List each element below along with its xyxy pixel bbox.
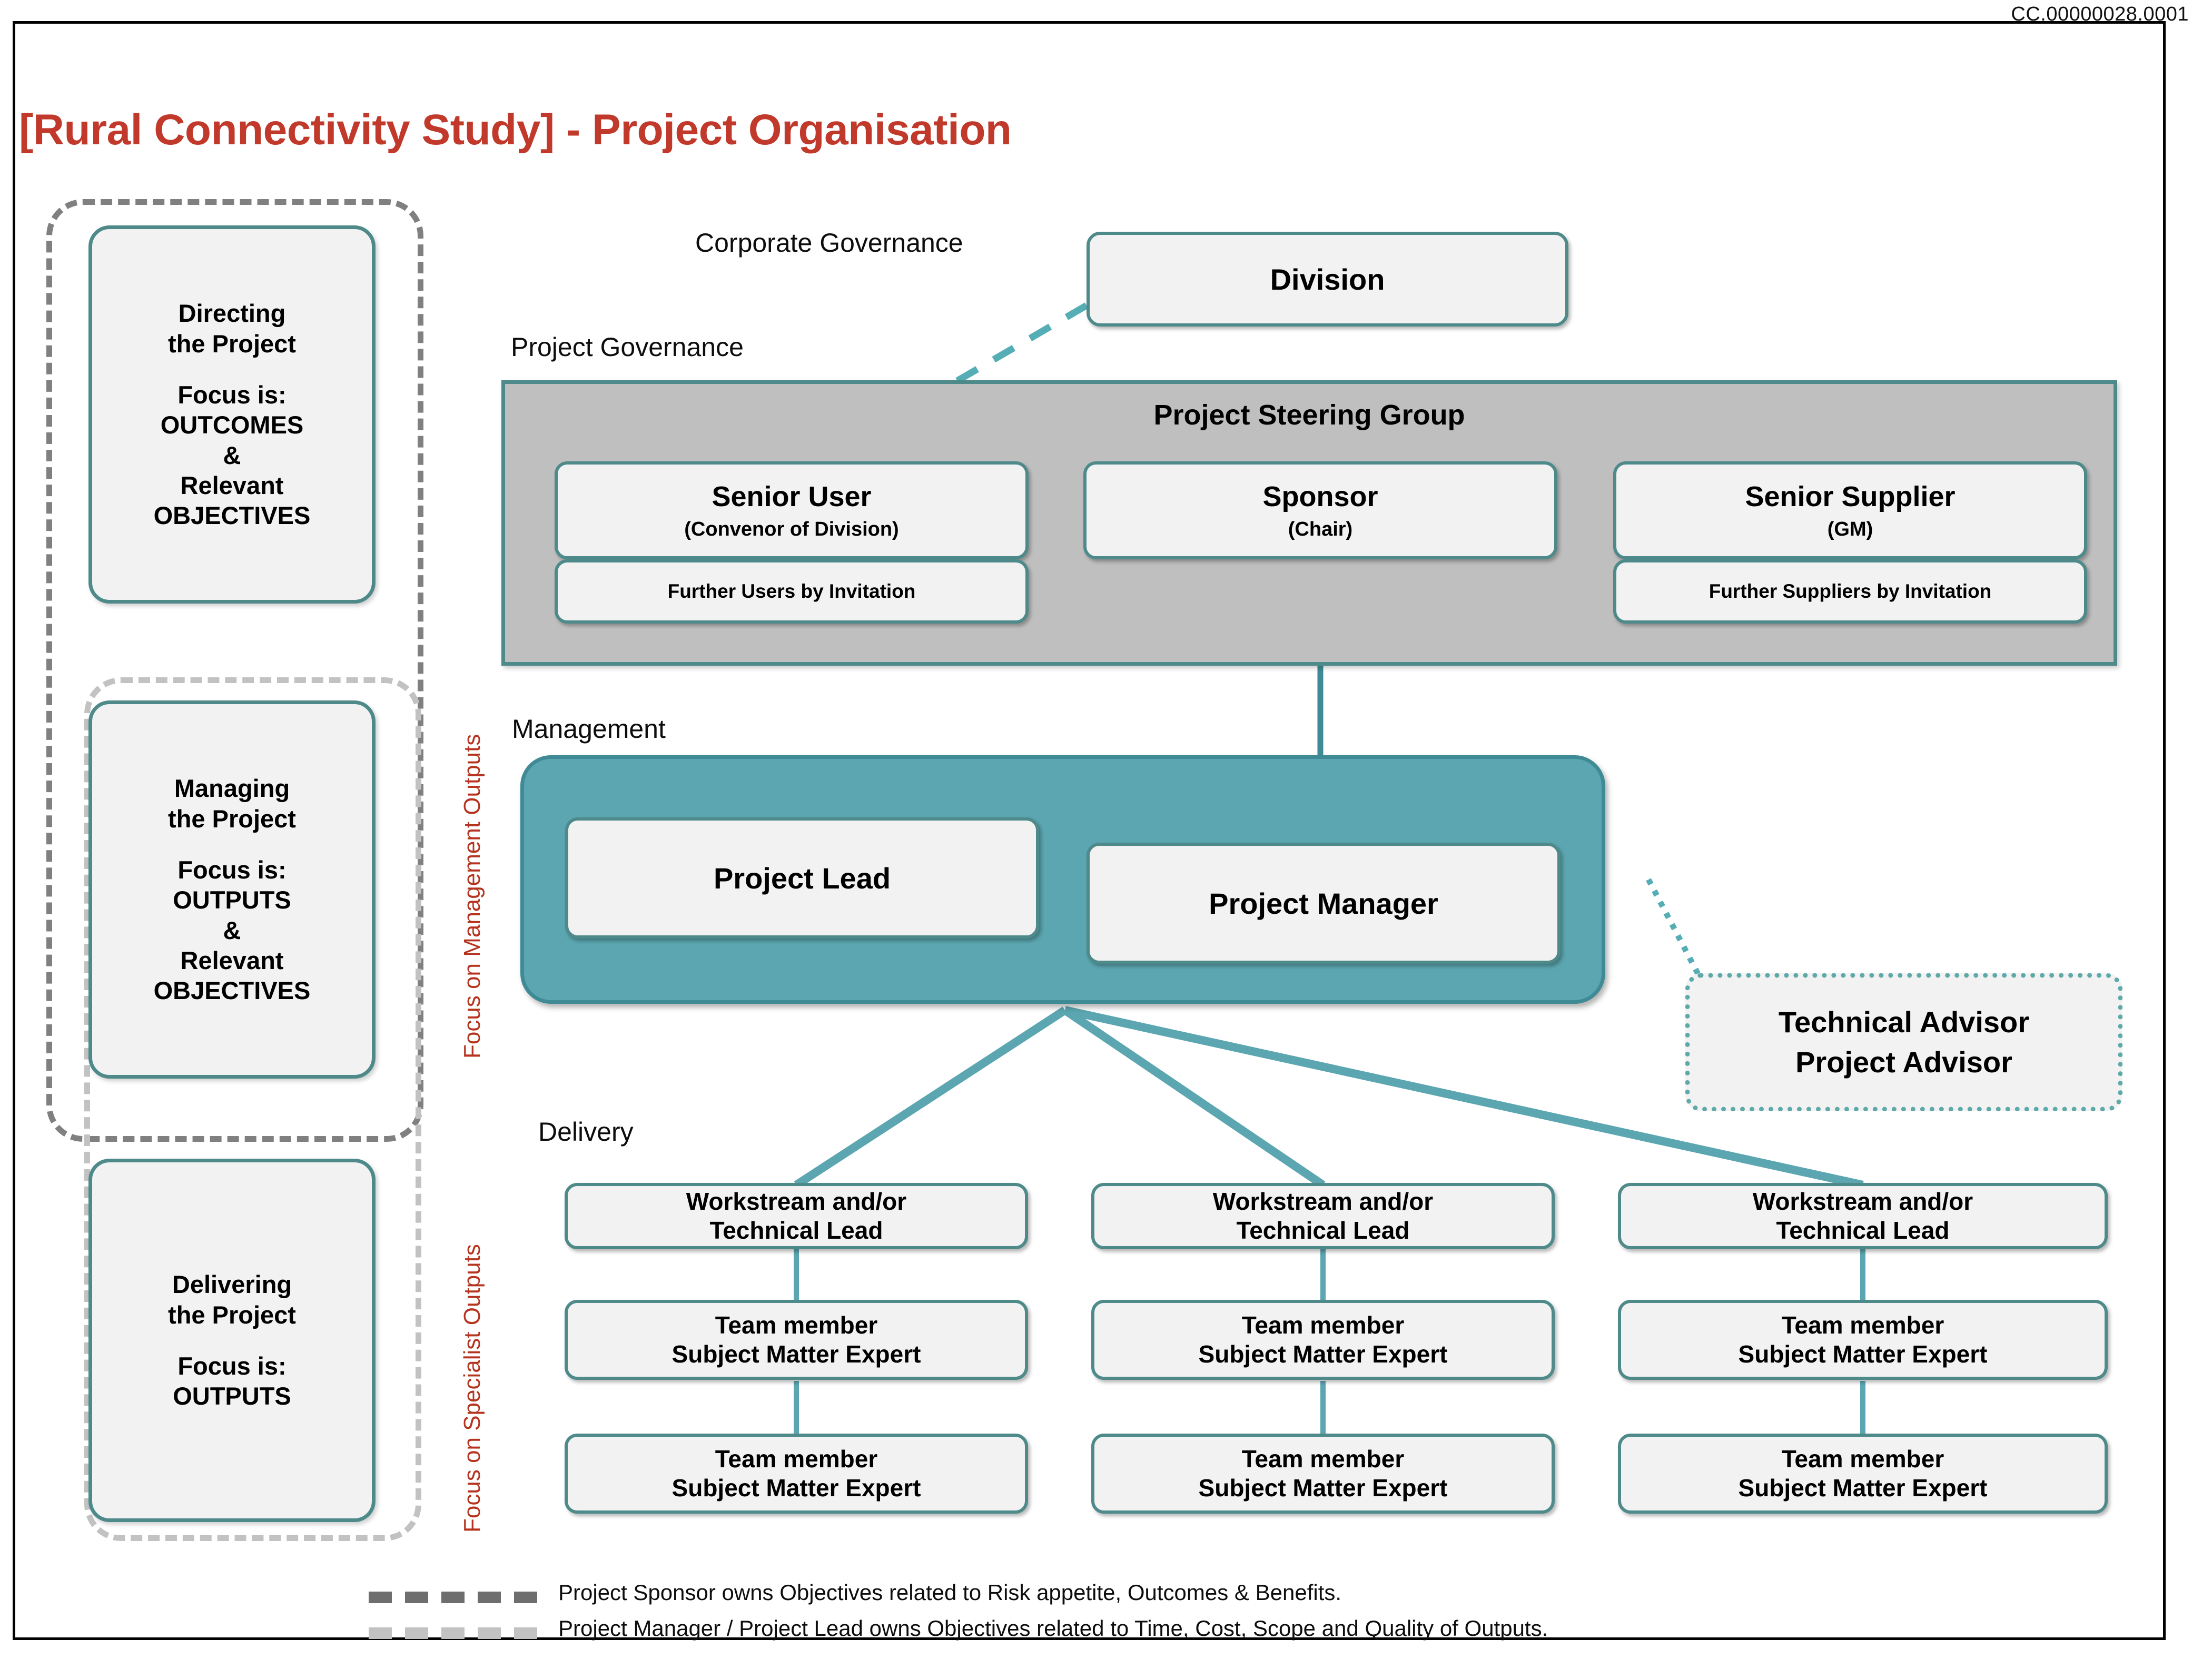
node-further-users[interactable]: Further Users by Invitation [555,559,1029,624]
senior-supplier-sub: (GM) [1828,518,1873,541]
focus-box-delivering: Delivering the Project Focus is: OUTPUTS [88,1159,376,1522]
team-member-line1: Team member [715,1445,878,1474]
workstream-lead-line1: Workstream and/or [1753,1187,1973,1216]
legend-text-sponsor: Project Sponsor owns Objectives related … [558,1580,1341,1605]
node-sponsor[interactable]: Sponsor (Chair) [1083,461,1557,559]
team-member-line2: Subject Matter Expert [672,1474,921,1503]
node-workstream-lead-2[interactable]: Workstream and/or Technical Lead [1091,1183,1555,1249]
node-team-member-2-2[interactable]: Team member Subject Matter Expert [1091,1434,1555,1514]
focus-heading-line1: Managing [174,773,290,803]
node-team-member-3-1[interactable]: Team member Subject Matter Expert [1618,1300,2108,1380]
caption-project-governance: Project Governance [511,332,744,362]
further-users-label: Further Users by Invitation [668,580,916,603]
node-project-lead[interactable]: Project Lead [565,817,1039,939]
document-code: CC.00000028.0001 [2011,3,2189,26]
node-senior-user[interactable]: Senior User (Convenor of Division) [555,461,1029,559]
division-label: Division [1270,262,1385,297]
workstream-lead-line2: Technical Lead [1237,1216,1410,1245]
workstream-lead-line2: Technical Lead [710,1216,883,1245]
focus-line-2: Relevant [181,945,284,975]
team-member-line1: Team member [1242,1311,1405,1340]
senior-user-sub: (Convenor of Division) [684,518,898,541]
vertical-label-management-outputs: Focus on Management Outputs [459,734,486,1059]
team-member-line2: Subject Matter Expert [672,1340,921,1369]
senior-supplier-role: Senior Supplier [1745,480,1955,513]
focus-line-3: OBJECTIVES [154,500,311,530]
focus-box-directing: Directing the Project Focus is: OUTCOMES… [88,225,376,604]
node-further-suppliers[interactable]: Further Suppliers by Invitation [1613,559,2087,624]
advisor-line2: Project Advisor [1795,1042,2012,1082]
team-member-line2: Subject Matter Expert [1199,1474,1448,1503]
workstream-lead-line1: Workstream and/or [686,1187,906,1216]
advisor-line1: Technical Advisor [1779,1002,2029,1042]
focus-line-0: OUTPUTS [173,1381,291,1411]
node-team-member-1-1[interactable]: Team member Subject Matter Expert [565,1300,1028,1380]
node-team-member-1-2[interactable]: Team member Subject Matter Expert [565,1434,1028,1514]
senior-user-role: Senior User [712,480,871,513]
team-member-line2: Subject Matter Expert [1739,1474,1988,1503]
page-title: [Rural Connectivity Study] - Project Org… [19,105,1012,155]
node-senior-supplier[interactable]: Senior Supplier (GM) [1613,461,2087,559]
team-member-line1: Team member [1782,1445,1944,1474]
further-suppliers-label: Further Suppliers by Invitation [1709,580,1992,603]
focus-line-0: OUTCOMES [161,410,304,440]
focus-label: Focus is: [177,1351,286,1381]
team-member-line1: Team member [715,1311,878,1340]
vertical-label-specialist-outputs: Focus on Specialist Outputs [459,1244,486,1533]
focus-line-3: OBJECTIVES [154,975,311,1005]
node-team-member-2-1[interactable]: Team member Subject Matter Expert [1091,1300,1555,1380]
focus-line-0: OUTPUTS [173,885,291,915]
node-workstream-lead-1[interactable]: Workstream and/or Technical Lead [565,1183,1028,1249]
focus-line-2: Relevant [181,470,284,500]
focus-heading-line2: the Project [168,1300,296,1330]
focus-box-managing: Managing the Project Focus is: OUTPUTS &… [88,700,376,1079]
team-member-line2: Subject Matter Expert [1199,1340,1448,1369]
focus-label: Focus is: [177,380,286,410]
legend-text-manager: Project Manager / Project Lead owns Obje… [558,1616,1548,1641]
caption-management: Management [512,714,666,744]
caption-delivery: Delivery [538,1117,634,1147]
node-team-member-3-2[interactable]: Team member Subject Matter Expert [1618,1434,2108,1514]
node-technical-advisor[interactable]: Technical Advisor Project Advisor [1685,973,2122,1111]
focus-line-1: & [223,915,241,945]
sponsor-role: Sponsor [1262,480,1378,513]
focus-heading-line1: Delivering [172,1269,292,1299]
focus-label: Focus is: [177,855,286,885]
team-member-line2: Subject Matter Expert [1739,1340,1988,1369]
diagram-page: CC.00000028.0001 [Rural Connectivity Stu… [0,0,2212,1659]
team-member-line1: Team member [1782,1311,1944,1340]
steering-group-title: Project Steering Group [505,399,2114,431]
project-lead-label: Project Lead [714,861,891,895]
node-workstream-lead-3[interactable]: Workstream and/or Technical Lead [1618,1183,2108,1249]
node-division[interactable]: Division [1087,232,1568,327]
node-project-manager[interactable]: Project Manager [1087,843,1561,964]
focus-heading-line2: the Project [168,804,296,834]
sponsor-sub: (Chair) [1288,518,1352,541]
focus-line-1: & [223,440,241,470]
legend-swatch-light [369,1627,537,1639]
caption-corporate-governance: Corporate Governance [695,228,963,258]
focus-heading-line2: the Project [168,329,296,359]
focus-heading-line1: Directing [179,298,286,328]
project-manager-label: Project Manager [1209,886,1438,921]
workstream-lead-line1: Workstream and/or [1213,1187,1433,1216]
workstream-lead-line2: Technical Lead [1776,1216,1950,1245]
team-member-line1: Team member [1242,1445,1405,1474]
legend-swatch-dark [369,1592,537,1603]
